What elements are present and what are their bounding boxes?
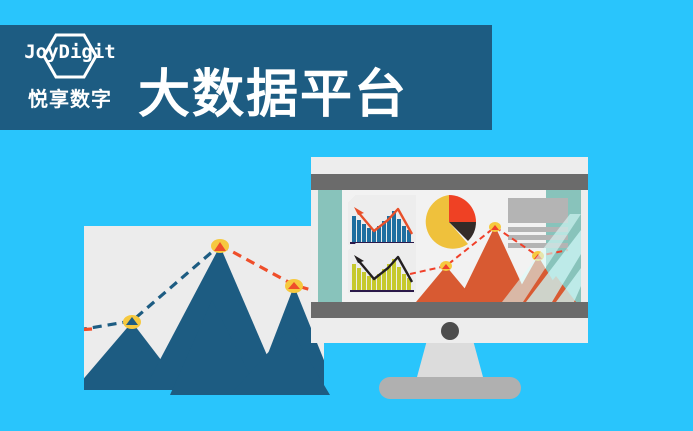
header-banner: JoyDigit 悦享数字 大数据平台 (0, 25, 492, 130)
logo-wordmark: JoyDigit (16, 41, 124, 63)
desktop-monitor (311, 157, 588, 398)
olive-bar-chart-card (348, 243, 416, 293)
pie-chart (426, 195, 476, 249)
poster-canvas: JoyDigit 悦享数字 大数据平台 (0, 0, 693, 431)
logo-chinese-name: 悦享数字 (16, 83, 124, 112)
brand-logo: JoyDigit 悦享数字 (16, 31, 124, 123)
blue-bar-chart-card (348, 195, 416, 245)
page-title: 大数据平台 (138, 69, 408, 121)
monitor-base (379, 377, 521, 399)
monitor-stand (417, 343, 483, 377)
mountain-overlap-shape (170, 300, 330, 395)
camera-icon (441, 322, 459, 340)
trend-line-red-left-tip (84, 329, 92, 330)
dashboard-svg (318, 190, 581, 302)
monitor-top-bar (311, 174, 588, 190)
monitor-screen (318, 190, 581, 302)
monitor-bottom-bar (311, 302, 588, 318)
